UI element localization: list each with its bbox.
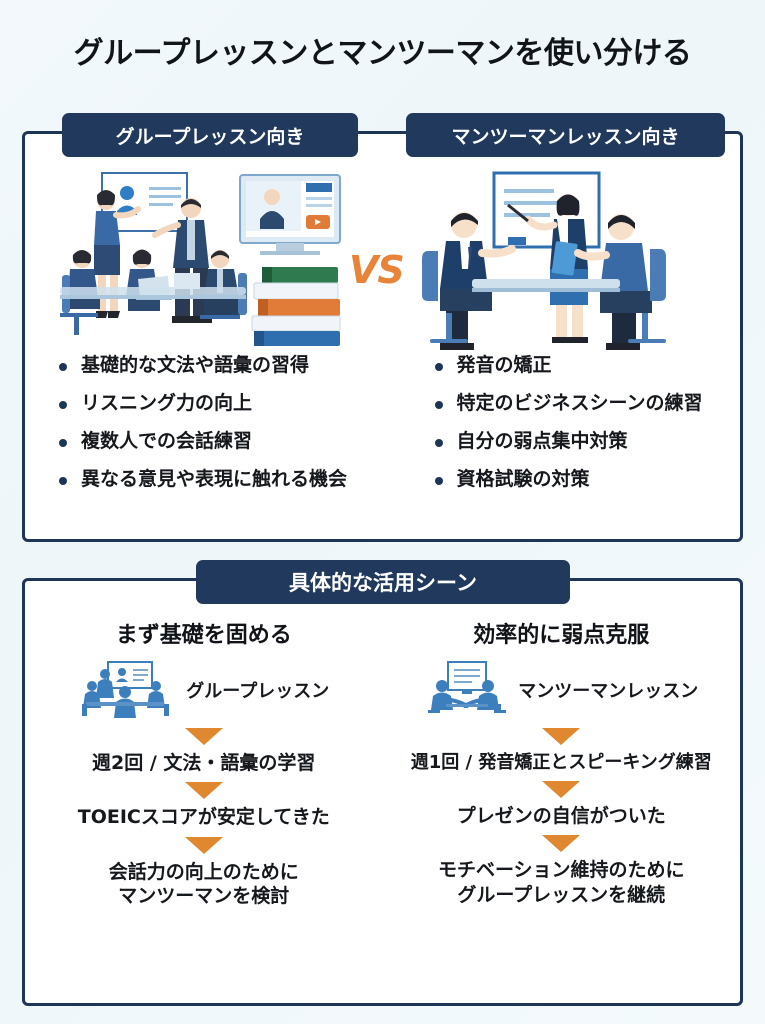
list-item: リスニング力の向上 [59, 394, 375, 413]
comparison-columns: 基礎的な文法や語彙の習得 リスニング力の向上 複数人での会話練習 異なる意見や表… [25, 160, 740, 565]
scene-step-line: 会話力の向上のために [25, 860, 383, 884]
list-item: 資格試験の対策 [435, 470, 733, 489]
scene-step-line: グループレッスンを継続 [383, 883, 741, 907]
flow-arrow-icon [185, 782, 223, 799]
scene-icon-label: グループレッスン [186, 677, 329, 703]
scene-heading: まず基礎を固める [25, 617, 383, 649]
private-lesson-column: 発音の矯正 特定のビジネスシーンの練習 自分の弱点集中対策 資格試験の対策 [383, 160, 741, 565]
group-meeting-icon [78, 660, 178, 720]
badge-group-lesson: グループレッスン向き [62, 113, 358, 157]
flow-arrow-icon [542, 728, 580, 745]
flow-arrow-icon [542, 781, 580, 798]
scene-step: プレゼンの自信がついた [383, 804, 741, 828]
list-item: 自分の弱点集中対策 [435, 432, 733, 451]
list-item: 異なる意見や表現に触れる機会 [59, 470, 375, 489]
flow-arrow-icon [185, 728, 223, 745]
list-item: 特定のビジネスシーンの練習 [435, 394, 733, 413]
scene-column-private: 効率的に弱点克服 [383, 617, 741, 908]
group-lesson-bullets: 基礎的な文法や語彙の習得 リスニング力の向上 複数人での会話練習 異なる意見や表… [25, 356, 383, 489]
scene-step: モチベーション維持のために グループレッスンを継続 [383, 858, 741, 907]
list-item: 複数人での会話練習 [59, 432, 375, 451]
scene-step-line: マンツーマンを検討 [25, 884, 383, 908]
comparison-card: 基礎的な文法や語彙の習得 リスニング力の向上 複数人での会話練習 異なる意見や表… [22, 131, 743, 542]
usage-scene-card: まず基礎を固める [22, 578, 743, 1006]
list-item: 発音の矯正 [435, 356, 733, 375]
group-lesson-illustration-svg [54, 163, 354, 353]
scene-heading: 効率的に弱点克服 [383, 617, 741, 649]
flow-arrow-icon [185, 837, 223, 854]
private-lesson-illustration [383, 160, 741, 356]
badge-private-lesson: マンツーマンレッスン向き [406, 113, 725, 157]
scene-step: 週1回 / 発音矯正とスピーキング練習 [383, 751, 741, 774]
private-lesson-bullets: 発音の矯正 特定のビジネスシーンの練習 自分の弱点集中対策 資格試験の対策 [383, 356, 741, 489]
scene-step-line: モチベーション維持のために [383, 858, 741, 882]
group-lesson-illustration [25, 160, 383, 356]
vs-label: VS [349, 248, 404, 292]
infographic-page: グループレッスンとマンツーマンを使い分ける [0, 0, 765, 1024]
usage-scene-columns: まず基礎を固める [25, 617, 740, 908]
one-on-one-meeting-icon [424, 660, 510, 720]
scene-icon-label: マンツーマンレッスン [518, 677, 698, 703]
scene-step: 会話力の向上のために マンツーマンを検討 [25, 860, 383, 909]
scene-step: TOEICスコアが安定してきた [25, 805, 383, 829]
badge-usage-scene: 具体的な活用シーン [196, 560, 570, 604]
list-item: 基礎的な文法や語彙の習得 [59, 356, 375, 375]
page-title: グループレッスンとマンツーマンを使い分ける [0, 0, 765, 72]
flow-arrow-icon [542, 835, 580, 852]
private-lesson-illustration-svg [416, 163, 706, 353]
scene-column-group: まず基礎を固める [25, 617, 383, 908]
scene-icon-row: グループレッスン [25, 659, 383, 721]
scene-step: 週2回 / 文法・語彙の学習 [25, 751, 383, 775]
scene-icon-row: マンツーマンレッスン [383, 659, 741, 721]
group-lesson-column: 基礎的な文法や語彙の習得 リスニング力の向上 複数人での会話練習 異なる意見や表… [25, 160, 383, 565]
